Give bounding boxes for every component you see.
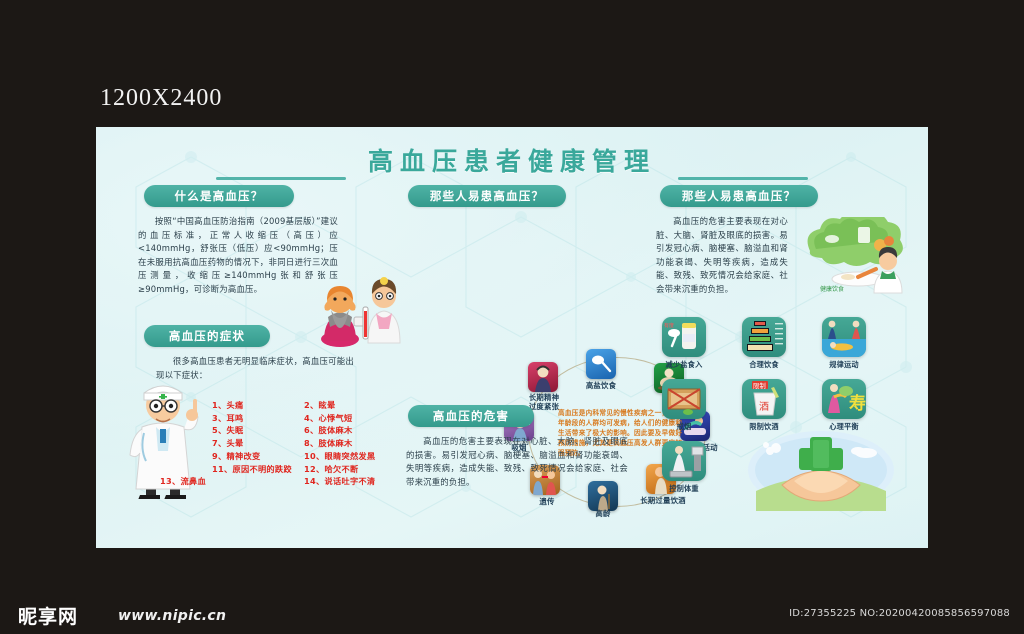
title-rule-left xyxy=(216,177,346,180)
symptom-row: 13、流鼻血 14、说话吐字不清 xyxy=(160,475,422,488)
symptom-row: 9、精神改变 10、眼睛突然发黑 xyxy=(212,450,422,463)
risk-node-chronic-stress-icon xyxy=(528,362,558,392)
tile-quit-smoking-icon xyxy=(662,379,706,419)
section-header-symptoms: 高血压的症状 xyxy=(144,325,270,347)
dimension-caption: 1200X2400 xyxy=(100,85,222,112)
svg-text:酒: 酒 xyxy=(759,401,769,413)
tile-limit-alcohol-icon: 限制酒 xyxy=(742,379,786,419)
title-rule-right xyxy=(678,177,808,180)
symptom-row: 3、耳鸣 4、心悸气短 xyxy=(212,412,422,425)
tile-regular-exercise-icon xyxy=(822,317,866,357)
svg-text:有度: 有度 xyxy=(664,322,674,329)
poster-canvas: 高血压患者健康管理 什么是高血压？ 按照“中国高血压防治指南（2009基层版）”… xyxy=(96,127,928,548)
symptom-list: 1、头痛 2、眩晕 3、耳鸣 4、心悸气短 5、失眠 6、肢体麻木 7、头晕 8… xyxy=(212,399,422,488)
harm-body: 高血压的危害主要表现在对心脏、大脑、肾脏及眼底的损害。易引发冠心病、脑梗塞、脑溢… xyxy=(406,435,628,489)
site-url: www.nipic.cn xyxy=(118,608,226,624)
manage-body: 高血压的危害主要表现在对心脏、大脑、肾脏及眼底的损害。易引发冠心病、脑梗塞、脑溢… xyxy=(656,215,788,297)
doctor-measuring-blood-pressure-icon xyxy=(314,267,406,347)
symptom-row: 11、原因不明的跌跤 12、哈欠不断 xyxy=(212,463,422,476)
svg-text:健康饮食: 健康饮食 xyxy=(820,285,844,293)
tile-balanced-diet-icon xyxy=(742,317,786,357)
healthy-eating-doctor-icon: 健康饮食 xyxy=(796,217,918,295)
hands-cross-care-icon xyxy=(746,429,896,511)
symptom-row: 1、头痛 2、眩晕 xyxy=(212,399,422,412)
symptom-row: 5、失眠 6、肢体麻木 xyxy=(212,424,422,437)
section-header-what-is: 什么是高血压？ xyxy=(144,185,294,207)
svg-text:寿: 寿 xyxy=(849,393,866,414)
tile-weight-control-icon xyxy=(662,441,706,481)
screenshot-root: 1200X2400 xyxy=(0,0,1024,634)
svg-text:限制: 限制 xyxy=(753,381,766,390)
section-header-harm: 高血压的危害 xyxy=(408,405,534,427)
page-title: 高血压患者健康管理 xyxy=(96,142,928,178)
symptom-row: 7、头晕 8、肢体麻木 xyxy=(212,437,422,450)
risk-node-high-salt-icon xyxy=(586,349,616,379)
site-logo: 昵享网 xyxy=(18,602,78,629)
tile-mental-balance-icon: 寿 xyxy=(822,379,866,419)
tile-reduce-salt-icon: 有度 xyxy=(662,317,706,357)
image-id-label: ID:27355225 NO:20200420085856597088 xyxy=(789,608,1010,619)
section-header-manage: 那些人易患高血压？ xyxy=(660,185,818,207)
section-header-who-risk: 那些人易患高血压？ xyxy=(408,185,566,207)
what-is-body: 按照“中国高血压防治指南（2009基层版）”建议的血压标准，正常人收缩压（高压）… xyxy=(138,215,338,297)
